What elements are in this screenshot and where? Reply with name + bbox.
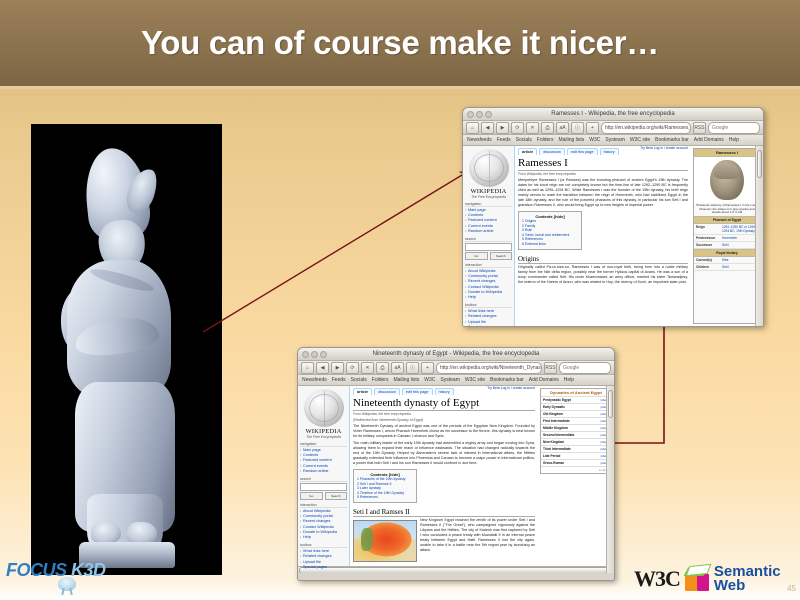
article-paragraph-1: Menpehtyre Ramesses I (or Ramses) was th… <box>518 178 688 208</box>
dynasty-label: First Intermediate <box>543 419 570 423</box>
dynasties-box-footer[interactable]: v • d • e <box>541 466 611 473</box>
add-bookmark-icon[interactable]: + <box>421 362 434 374</box>
slide-canvas: You can of course make it nicer… <box>0 0 800 600</box>
infobox-value[interactable]: Horemheb <box>722 236 758 240</box>
egypt-empire-map <box>353 520 417 562</box>
sidebar-head-search: search <box>465 237 512 242</box>
home-icon[interactable]: ⌂ <box>466 122 479 134</box>
forward-icon[interactable]: ▶ <box>496 122 509 134</box>
statue-image <box>31 124 222 575</box>
zoom-icon[interactable] <box>320 351 327 358</box>
infobox-row: Children Seti I <box>694 264 760 271</box>
bookmark-item[interactable]: W3C site <box>465 377 485 383</box>
dynasty-label: Late Period <box>543 454 560 458</box>
slide-number: 45 <box>787 584 796 593</box>
window1-bookmarks-bar[interactable]: Newsfeeds Feeds Socials Folders Mailing … <box>463 135 763 146</box>
bookmark-item[interactable]: Mailing lists <box>393 377 419 383</box>
sidebar-item-special-pages[interactable]: Special pages <box>300 565 347 570</box>
bookmark-item[interactable]: W3C <box>589 137 600 143</box>
print-icon[interactable]: ⎙ <box>541 122 554 134</box>
search-input[interactable]: Google <box>559 362 611 374</box>
bookmark-item[interactable]: Systeam <box>440 377 459 383</box>
close-icon[interactable] <box>302 351 309 358</box>
sidebar-head-interaction: interaction <box>465 263 512 268</box>
search-input[interactable]: Google <box>708 122 760 134</box>
dynasty-label: Early Dynastic <box>543 405 565 409</box>
web-word: Web <box>714 579 781 593</box>
sidebar-head-navigation: navigation <box>465 202 512 207</box>
cube-face-right <box>697 574 709 591</box>
dynasty-label: Third Intermediate <box>543 447 571 451</box>
tab-discussion[interactable]: discussion <box>374 388 400 395</box>
minimize-icon[interactable] <box>311 351 318 358</box>
back-icon[interactable]: ◀ <box>481 122 494 134</box>
home-icon[interactable]: ⌂ <box>301 362 314 374</box>
bookmark-item[interactable]: Newsfeeds <box>302 377 327 383</box>
bookmark-item[interactable]: Add Domains <box>694 137 724 143</box>
text-size-icon[interactable]: aA <box>391 362 404 374</box>
window2-article-body: Try Beta Log in / create account article… <box>350 386 538 566</box>
banner-divider <box>0 86 800 89</box>
info-icon[interactable]: ⓘ <box>571 122 584 134</box>
window1-article-body: Try Beta Log in / create account article… <box>515 146 691 326</box>
bookmark-item[interactable]: Feeds <box>332 377 346 383</box>
bookmark-item[interactable]: Feeds <box>497 137 511 143</box>
go-button[interactable]: Go <box>465 252 488 260</box>
window1-wiki-sidebar[interactable]: WIKIPEDIA The Free Encyclopedia navigati… <box>463 146 515 326</box>
bookmark-item[interactable]: Socials <box>516 137 532 143</box>
tab-edit-this-page[interactable]: edit this page <box>402 388 433 395</box>
window1-infobox: Ramesses I Pharaonic statuary of Ramesse… <box>693 148 761 324</box>
window1-content: WIKIPEDIA The Free Encyclopedia navigati… <box>463 146 763 326</box>
text-size-icon[interactable]: aA <box>556 122 569 134</box>
article-paragraph-2: The main military leader of the early 19… <box>353 441 535 466</box>
article-heading: Nineteenth dynasty of Egypt <box>353 397 535 411</box>
wikipedia-wordmark: WIKIPEDIA <box>465 188 512 195</box>
focus-word: FOCUS <box>6 560 71 580</box>
bookmark-item[interactable]: Bookmarks bar <box>490 377 524 383</box>
bookmark-item[interactable]: Folders <box>537 137 554 143</box>
sidebar-item-help[interactable]: Help <box>465 295 512 300</box>
tab-edit-this-page[interactable]: edit this page <box>567 148 598 155</box>
infobox-value[interactable]: Seti I <box>722 265 758 269</box>
minimize-icon[interactable] <box>476 111 483 118</box>
zoom-icon[interactable] <box>485 111 492 118</box>
infobox-image <box>694 157 760 203</box>
stop-icon[interactable]: ✕ <box>361 362 374 374</box>
tab-history[interactable]: history <box>435 388 454 395</box>
k3d-word: K3D <box>71 560 106 580</box>
toc-item[interactable]: 6 External links <box>522 242 578 247</box>
arrow-statue-to-ramesses-window <box>195 160 485 340</box>
bookmark-item[interactable]: Help <box>564 377 574 383</box>
reload-icon[interactable]: ⟳ <box>346 362 359 374</box>
dynasty-label: Middle Kingdom <box>543 426 568 430</box>
window2-toolbar[interactable]: ⌂ ◀ ▶ ⟳ ✕ ⎙ aA ⓘ + http://en.wikipedia.o… <box>298 361 614 375</box>
infobox-section-pharaoh: Pharaoh of Egypt <box>694 216 760 224</box>
table-row[interactable]: Predynastic Egypt [show] <box>541 396 611 403</box>
infobox-row: Consort(s) Sitre <box>694 257 760 264</box>
bookmark-item[interactable]: Help <box>729 137 739 143</box>
info-icon[interactable]: ⓘ <box>406 362 419 374</box>
table-of-contents[interactable]: Contents [hide] 1 Origins 2 Family 3 Rul… <box>518 211 582 250</box>
tab-history[interactable]: history <box>600 148 619 155</box>
bookmark-item[interactable]: Folders <box>372 377 389 383</box>
table-row[interactable]: New Kingdom [show] <box>541 438 611 445</box>
bookmark-item[interactable]: Mailing lists <box>558 137 584 143</box>
window2-titlebar[interactable]: Nineteenth dynasty of Egypt - Wikipedia,… <box>298 348 614 361</box>
infobox-row: Successor Seti I <box>694 242 760 249</box>
back-icon[interactable]: ◀ <box>316 362 329 374</box>
pharaoh-head-photo <box>710 160 744 200</box>
tab-article[interactable]: article <box>353 388 372 395</box>
wikipedia-globe-icon <box>304 389 344 427</box>
statue-foot-left <box>91 522 121 544</box>
window1-titlebar[interactable]: Ramesses I - Wikipedia, the free encyclo… <box>463 108 763 121</box>
infobox-value[interactable]: Seti I <box>722 243 758 247</box>
statue-foot-right <box>127 522 157 544</box>
window2-title: Nineteenth dynasty of Egypt - Wikipedia,… <box>298 348 614 360</box>
article-redirect-note: (Redirected from Nineteenth Dynasty of E… <box>353 418 535 422</box>
page-title: You can of course make it nicer… <box>0 24 800 62</box>
close-icon[interactable] <box>467 111 474 118</box>
dynasty-label: New Kingdom <box>543 440 564 444</box>
wikipedia-page-dynasty: WIKIPEDIA The Free Encyclopedia navigati… <box>298 386 614 566</box>
go-button[interactable]: Go <box>300 492 323 500</box>
focus-k3d-wordmark: FOCUS K3D <box>6 560 186 581</box>
table-row[interactable]: First Intermediate [show] <box>541 417 611 424</box>
wiki-search-input[interactable] <box>465 243 512 251</box>
article-section-heading: Seti I and Ramses II <box>353 508 535 517</box>
tab-article[interactable]: article <box>518 148 537 155</box>
wikipedia-page-ramesses: WIKIPEDIA The Free Encyclopedia navigati… <box>463 146 763 326</box>
dynasty-label: Greco-Roman <box>543 461 564 465</box>
table-row[interactable]: Second Intermediate [show] <box>541 431 611 438</box>
semantic-web-cube-icon <box>684 566 710 592</box>
article-subheading: From Wikipedia, the free encyclopedia <box>353 412 535 416</box>
sidebar-item-help[interactable]: Help <box>300 535 347 540</box>
infobox-key: Children <box>696 265 720 269</box>
sidebar-head-interaction: interaction <box>300 503 347 508</box>
wiki-search-buttons[interactable]: Go Search <box>300 492 347 500</box>
bookmark-item[interactable]: Newsfeeds <box>467 137 492 143</box>
article-section-heading: Origins <box>518 255 688 264</box>
sidebar-item-special-pages[interactable]: Special pages <box>465 325 512 326</box>
article-paragraph-1: The Nineteenth Dynasty of ancient Egypt … <box>353 424 535 439</box>
article-paragraph-3: New Kingdom Egypt reached the zenith of … <box>420 518 535 560</box>
infobox-value[interactable]: Sitre <box>722 258 758 262</box>
cube-face-left <box>685 574 697 591</box>
sidebar-head-navigation: navigation <box>300 442 347 447</box>
bookmark-item[interactable]: Systeam <box>605 137 624 143</box>
w3c-semantic-web-logo: W3C Semantic Web <box>634 562 794 596</box>
infobox-row: Predecessor Horemheb <box>694 235 760 242</box>
window2-bookmarks-bar[interactable]: Newsfeeds Feeds Socials Folders Mailing … <box>298 375 614 386</box>
address-bar[interactable]: http://en.wikipedia.org/wiki/Ramesses_I <box>601 122 691 134</box>
bookmark-item[interactable]: Bookmarks bar <box>655 137 689 143</box>
window1-toolbar[interactable]: ⌂ ◀ ▶ ⟳ ✕ ⎙ aA ⓘ + http://en.wikipedia.o… <box>463 121 763 135</box>
table-row[interactable]: Late Period [show] <box>541 452 611 459</box>
bookmark-item[interactable]: W3C <box>424 377 435 383</box>
wiki-search-input[interactable] <box>300 483 347 491</box>
wikipedia-tagline: The Free Encyclopedia <box>300 435 347 439</box>
infobox-value: 1292–1290 BC or 1295–1294 BC, 19th Dynas… <box>722 225 758 233</box>
infobox-key: Reign <box>696 225 720 233</box>
dynasty-label: Old Kingdom <box>543 412 563 416</box>
semantic-web-wordmark: Semantic Web <box>714 565 781 593</box>
sidebar-head-search: search <box>300 477 347 482</box>
table-row[interactable]: Third Intermediate [show] <box>541 445 611 452</box>
sidebar-head-toolbox: toolbox <box>300 543 347 548</box>
wikipedia-tagline: The Free Encyclopedia <box>465 195 512 199</box>
article-heading: Ramesses I <box>518 157 688 171</box>
search-button[interactable]: Search <box>490 252 513 260</box>
window1-traffic-lights[interactable] <box>467 111 492 118</box>
forward-icon[interactable]: ▶ <box>331 362 344 374</box>
toc-item[interactable]: 5 References <box>357 495 413 500</box>
wiki-user-nav[interactable]: Try Beta Log in / create account <box>487 386 535 390</box>
window1-vertical-scrollbar[interactable] <box>755 146 763 326</box>
dynasty-label: Second Intermediate <box>543 433 574 437</box>
add-bookmark-icon[interactable]: + <box>586 122 599 134</box>
stop-icon[interactable]: ✕ <box>526 122 539 134</box>
wiki-search-buttons[interactable]: Go Search <box>465 252 512 260</box>
bookmark-item[interactable]: Socials <box>351 377 367 383</box>
table-of-contents[interactable]: Contents [hide] 1 Pharaohs of the 19th d… <box>353 469 417 503</box>
table-row[interactable]: Greco-Roman [show] <box>541 459 611 466</box>
address-bar[interactable]: http://en.wikipedia.org/wiki/Nineteenth_… <box>436 362 542 374</box>
sidebar-item-random[interactable]: Random article <box>300 469 347 474</box>
scrollbar-thumb[interactable] <box>608 390 613 418</box>
dynasties-box: Dynasties of Ancient Egypt Predynastic E… <box>540 388 612 474</box>
infobox-key: Successor <box>696 243 720 247</box>
print-icon[interactable]: ⎙ <box>376 362 389 374</box>
infobox-caption: Pharaonic statuary of Ramesses I in the … <box>694 203 760 216</box>
wiki-user-nav[interactable]: Try Beta Log in / create account <box>640 146 688 150</box>
browser-window-ramesses[interactable]: Ramesses I - Wikipedia, the free encyclo… <box>462 107 764 327</box>
window1-title: Ramesses I - Wikipedia, the free encyclo… <box>463 108 763 120</box>
scrollbar-thumb[interactable] <box>757 150 762 178</box>
window2-vertical-scrollbar[interactable] <box>606 386 614 573</box>
bookmark-item[interactable]: Add Domains <box>529 377 559 383</box>
sidebar-item-random[interactable]: Random article <box>465 229 512 234</box>
dynasty-label: Predynastic Egypt <box>543 398 571 402</box>
w3c-wordmark: W3C <box>634 566 680 592</box>
infobox-section-titulary: Royal titulary <box>694 249 760 257</box>
table-row[interactable]: Old Kingdom [show] <box>541 410 611 417</box>
infobox-row: Reign 1292–1290 BC or 1295–1294 BC, 19th… <box>694 224 760 235</box>
dynasties-box-title: Dynasties of Ancient Egypt <box>541 389 611 396</box>
table-row[interactable]: Middle Kingdom [show] <box>541 424 611 431</box>
wikipedia-wordmark: WIKIPEDIA <box>300 428 347 435</box>
window2-wiki-sidebar[interactable]: WIKIPEDIA The Free Encyclopedia navigati… <box>298 386 350 566</box>
article-subheading: From Wikipedia, the free encyclopedia <box>518 172 688 176</box>
rss-icon[interactable]: RSS <box>544 362 557 374</box>
search-button[interactable]: Search <box>325 492 348 500</box>
infobox-key: Consort(s) <box>696 258 720 262</box>
window2-traffic-lights[interactable] <box>302 351 327 358</box>
toc-item[interactable]: 1 Pharaohs of the 19th dynasty <box>357 477 413 482</box>
wikipedia-globe-icon <box>469 149 509 187</box>
tab-discussion[interactable]: discussion <box>539 148 565 155</box>
article-paragraph-2: Originally called Pa-ra-mes-su, Ramesses… <box>518 265 688 285</box>
browser-window-dynasty[interactable]: Nineteenth dynasty of Egypt - Wikipedia,… <box>297 347 615 581</box>
window2-content: WIKIPEDIA The Free Encyclopedia navigati… <box>298 386 614 573</box>
table-row[interactable]: Early Dynastic [show] <box>541 403 611 410</box>
focus-k3d-logo: FOCUS K3D <box>6 560 186 596</box>
sidebar-head-toolbox: toolbox <box>465 303 512 308</box>
infobox-title: Ramesses I <box>694 149 760 157</box>
rss-icon[interactable]: RSS <box>693 122 706 134</box>
bookmark-item[interactable]: W3C site <box>630 137 650 143</box>
reload-icon[interactable]: ⟳ <box>511 122 524 134</box>
focus-mascot-icon <box>58 577 76 591</box>
infobox-key: Predecessor <box>696 236 720 240</box>
